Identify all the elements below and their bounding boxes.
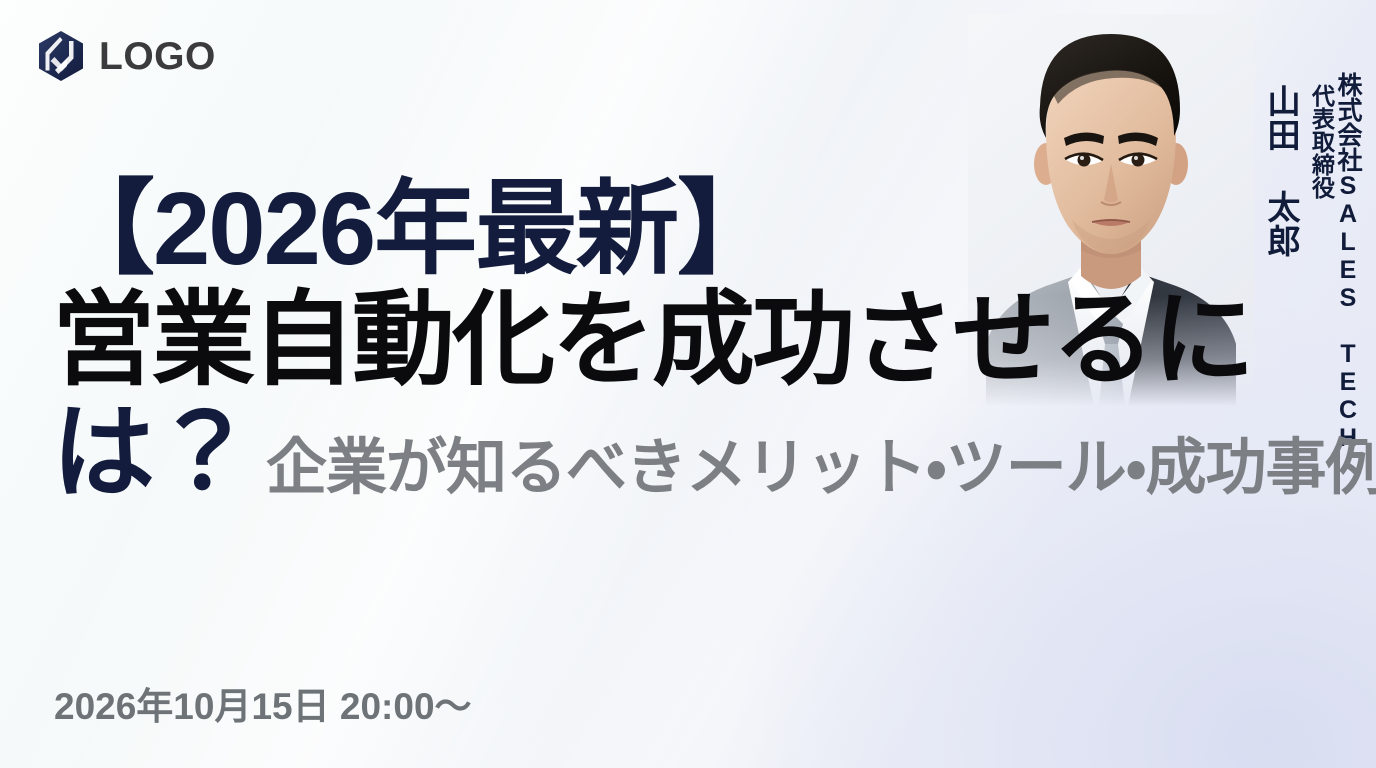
hexagon-bolt-icon — [36, 30, 86, 82]
speaker-role: 代表取締役 — [1309, 36, 1332, 199]
headline-line-2: 営業自動化を成功させるに — [52, 287, 1362, 392]
webinar-title-slide: LOGO — [0, 0, 1376, 768]
headline-line-1: 【2026年最新】 — [52, 176, 1362, 281]
headline-line-3: は？ 企業が知るべきメリット・ツール・成功事例 — [52, 400, 1362, 505]
page-title: 【2026年最新】 営業自動化を成功させるに は？ 企業が知るべきメリット・ツー… — [52, 176, 1362, 505]
headline-subtitle: 企業が知るべきメリット・ツール・成功事例 — [266, 436, 1376, 498]
logo-lockup[interactable]: LOGO — [36, 30, 216, 82]
logo-text: LOGO — [99, 37, 216, 76]
event-datetime: 2026年10月15日 20:00〜 — [54, 676, 472, 730]
headline-question-mark: は？ — [52, 400, 252, 505]
